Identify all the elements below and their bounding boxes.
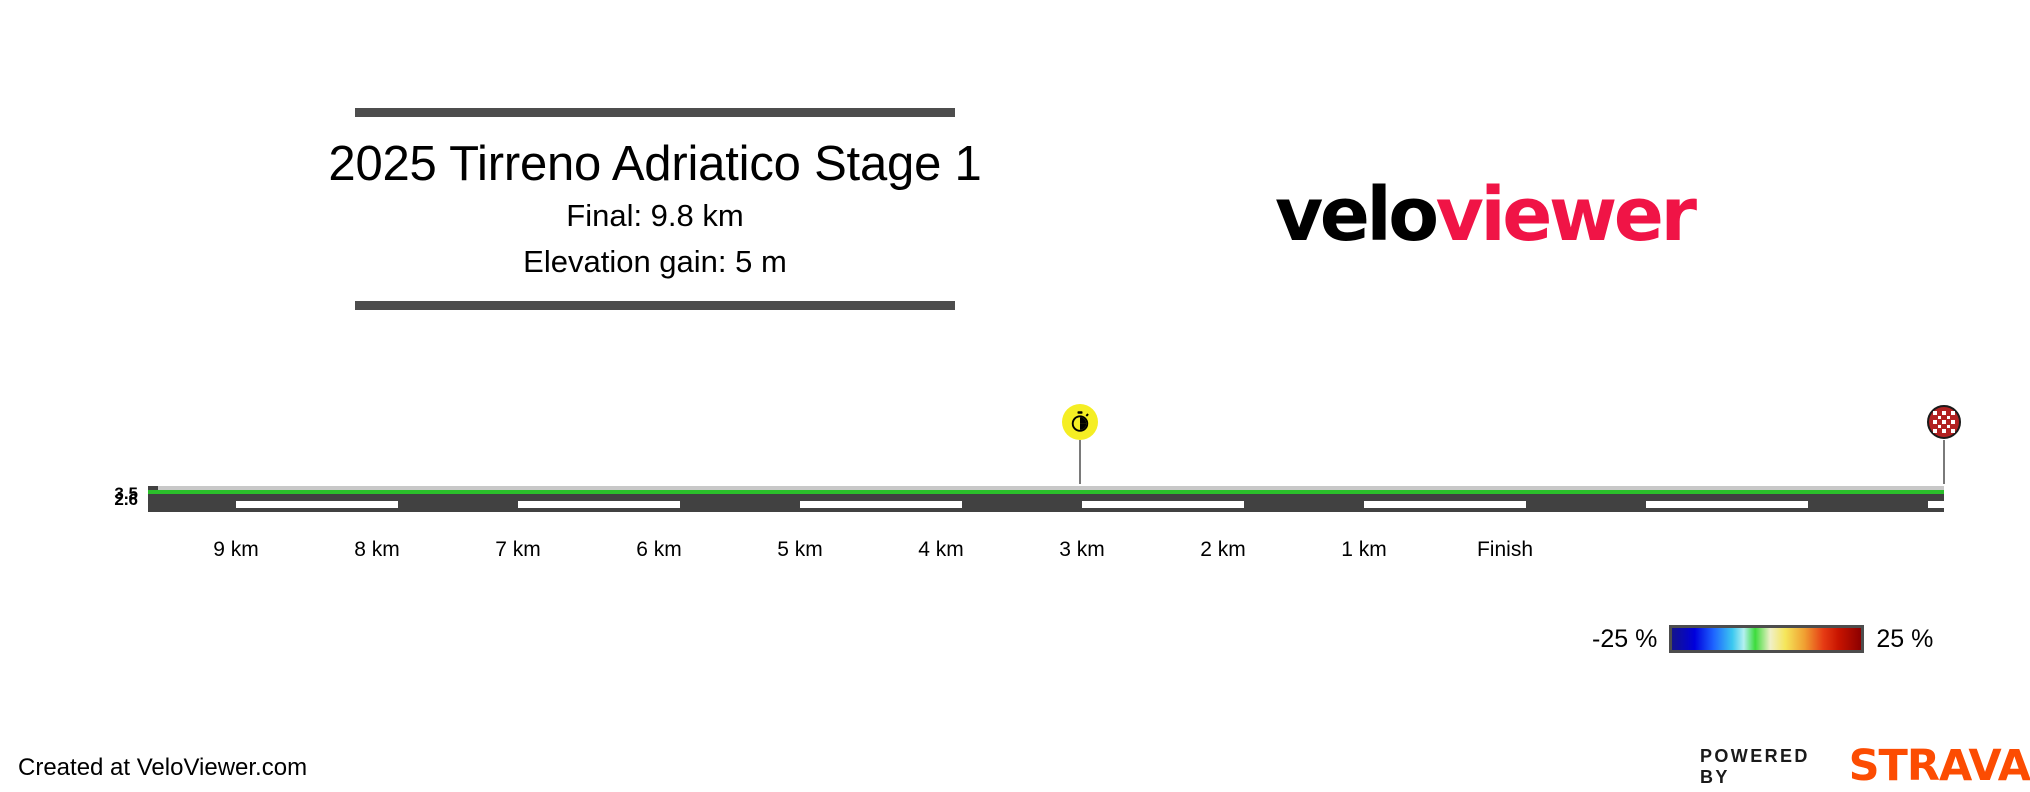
gradient-colorbar-legend: -25 % 25 % <box>1592 622 1933 656</box>
stopwatch-icon <box>1062 404 1098 440</box>
x-axis: 9 km 8 km 7 km 6 km 5 km 4 km 3 km 2 km … <box>148 538 1944 568</box>
x-axis-tick-finish: Finish <box>1477 538 1533 562</box>
x-axis-tick-4km: 4 km <box>918 538 964 562</box>
km-marker-bar <box>236 501 398 508</box>
strava-attribution: POWERED BY STRAVA <box>1700 745 2030 788</box>
elevation-gain-label: Elevation gain: 5 m <box>0 242 1310 282</box>
logo-text-viewer: viewer <box>1436 172 1694 258</box>
x-axis-tick-8km: 8 km <box>354 538 400 562</box>
km-marker-bar <box>1928 501 1944 508</box>
powered-by-label: POWERED BY <box>1700 746 1833 788</box>
strava-wordmark: STRAVA <box>1849 745 2030 788</box>
x-axis-tick-3km: 3 km <box>1059 538 1105 562</box>
gradient-colorbar <box>1669 625 1864 653</box>
km-marker-bar <box>800 501 962 508</box>
x-axis-tick-6km: 6 km <box>636 538 682 562</box>
checker-pattern <box>1933 411 1955 433</box>
x-axis-tick-7km: 7 km <box>495 538 541 562</box>
legend-max-label: 25 % <box>1876 625 1933 654</box>
road-gradient-line <box>148 490 1944 494</box>
km-marker-bar <box>1082 501 1244 508</box>
final-distance-label: Final: 9.8 km <box>0 196 1310 236</box>
km-marker-bar <box>1646 501 1808 508</box>
page-title: 2025 Tirreno Adriatico Stage 1 <box>0 139 1310 190</box>
x-axis-tick-1km: 1 km <box>1341 538 1387 562</box>
x-axis-tick-5km: 5 km <box>777 538 823 562</box>
legend-min-label: -25 % <box>1592 625 1657 654</box>
marker-stem <box>1079 440 1081 484</box>
created-at-credit: Created at VeloViewer.com <box>18 754 307 782</box>
marker-stem <box>1943 440 1945 484</box>
veloviewer-logo: veloviewer <box>1275 178 1693 252</box>
title-block: 2025 Tirreno Adriatico Stage 1 Final: 9.… <box>0 108 1310 310</box>
km-marker-bar <box>518 501 680 508</box>
checkered-flag-icon <box>1927 405 1961 439</box>
logo-text-velo: velo <box>1275 172 1436 258</box>
y-axis-tick-min: 2.6 <box>114 490 138 510</box>
title-rule-top <box>355 108 955 117</box>
x-axis-tick-2km: 2 km <box>1200 538 1246 562</box>
elevation-profile-chart[interactable] <box>148 486 1944 512</box>
km-marker-bar <box>1364 501 1526 508</box>
title-rule-bottom <box>355 301 955 310</box>
x-axis-tick-9km: 9 km <box>213 538 259 562</box>
